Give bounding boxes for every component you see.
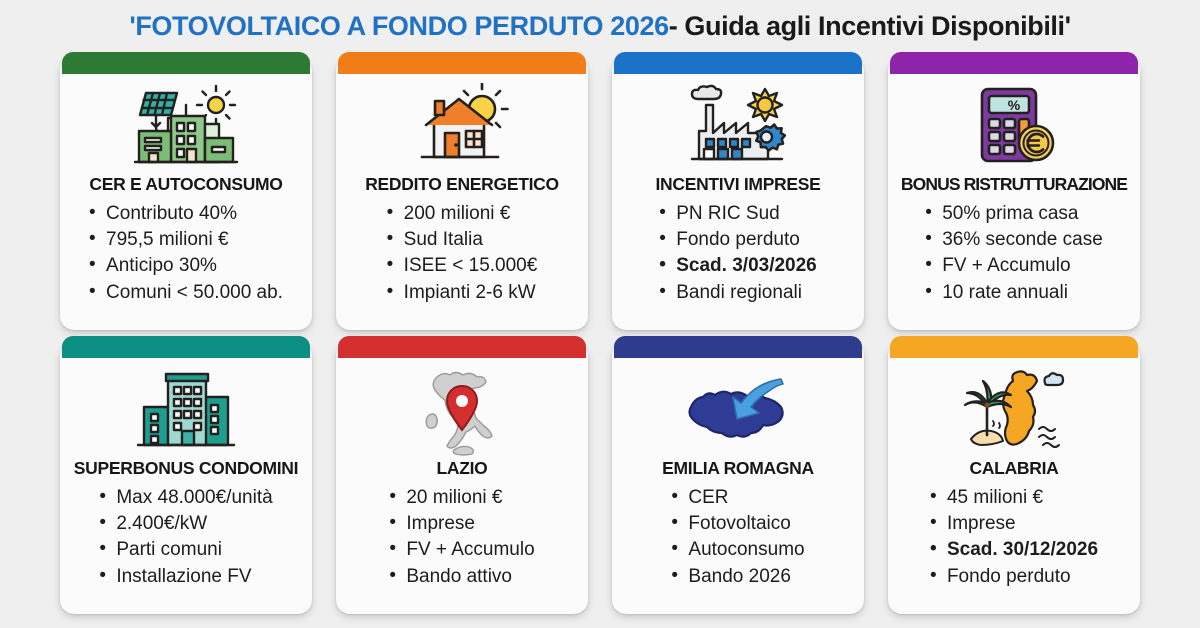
card-title: CER E AUTOCONSUMO	[89, 174, 282, 195]
card-accent-bar	[338, 336, 586, 358]
factory-sun-gear-icon	[618, 80, 858, 172]
svg-text:%: %	[1008, 97, 1021, 113]
card-content: INCENTIVI IMPRESEPN RIC SudFondo perduto…	[618, 80, 858, 306]
card-content: CER E AUTOCONSUMOContributo 40%795,5 mil…	[66, 80, 306, 306]
calculator-euro-icon: %	[894, 80, 1134, 172]
card-title: LAZIO	[437, 458, 488, 479]
bullet-item: FV + Accumulo	[389, 537, 534, 563]
card-cell: CALABRIA45 milioni €ImpreseScad. 30/12/2…	[876, 336, 1152, 620]
card-emilia-romagna[interactable]: EMILIA ROMAGNACERFotovoltaicoAutoconsumo…	[612, 342, 864, 614]
card-title: REDDITO ENERGETICO	[365, 174, 559, 195]
card-content: REDDITO ENERGETICO200 milioni €Sud Itali…	[342, 80, 582, 306]
italy-map-pin-icon	[342, 364, 582, 456]
solar-panel-buildings-icon	[66, 80, 306, 172]
bullet-item: Installazione FV	[99, 564, 272, 590]
bullet-item: Comuni < 50.000 ab.	[89, 280, 283, 306]
house-sun-icon	[342, 80, 582, 172]
card-bonus-ristrutturazione[interactable]: % BONUS RISTRUTTURAZIONE50% prima casa36…	[888, 58, 1140, 330]
card-cell: CER E AUTOCONSUMOContributo 40%795,5 mil…	[48, 52, 324, 336]
card-title: CALABRIA	[970, 458, 1059, 479]
bullet-item: 795,5 milioni €	[89, 227, 283, 253]
bullet-item: Fondo perduto	[930, 564, 1098, 590]
card-content: SUPERBONUS CONDOMINIMax 48.000€/unità2.4…	[66, 364, 306, 590]
bullet-item: PN RIC Sud	[659, 201, 817, 227]
card-cell: INCENTIVI IMPRESEPN RIC SudFondo perduto…	[600, 52, 876, 336]
page-title: 'FOTOVOLTAICO A FONDO PERDUTO 2026 - Gui…	[0, 0, 1200, 52]
card-calabria[interactable]: CALABRIA45 milioni €ImpreseScad. 30/12/2…	[888, 342, 1140, 614]
page-title-subtitle: - Guida agli Incentivi Disponibili'	[669, 13, 1071, 40]
emilia-romagna-map-arrow-icon	[618, 364, 858, 456]
card-superbonus-condomini[interactable]: SUPERBONUS CONDOMINIMax 48.000€/unità2.4…	[60, 342, 312, 614]
card-bullet-list: 45 milioni €ImpreseScad. 30/12/2026Fondo…	[930, 485, 1098, 590]
card-title: SUPERBONUS CONDOMINI	[74, 458, 298, 479]
apartment-building-icon	[66, 364, 306, 456]
bullet-item: ISEE < 15.000€	[387, 253, 538, 279]
card-title: BONUS RISTRUTTURAZIONE	[901, 174, 1127, 195]
card-bullet-list: CERFotovoltaicoAutoconsumoBando 2026	[671, 485, 804, 590]
card-accent-bar	[890, 52, 1138, 74]
card-lazio[interactable]: LAZIO20 milioni €ImpreseFV + AccumuloBan…	[336, 342, 588, 614]
card-accent-bar	[62, 336, 310, 358]
infographic-page: 'FOTOVOLTAICO A FONDO PERDUTO 2026 - Gui…	[0, 0, 1200, 628]
page-title-highlight: 'FOTOVOLTAICO A FONDO PERDUTO 2026	[129, 13, 668, 40]
bullet-item: Scad. 3/03/2026	[659, 253, 817, 279]
card-title: EMILIA ROMAGNA	[662, 458, 814, 479]
bullet-item: 10 rate annuali	[925, 280, 1103, 306]
card-bullet-list: Max 48.000€/unità2.400€/kWParti comuniIn…	[99, 485, 272, 590]
bullet-item: Imprese	[389, 511, 534, 537]
bullet-item: Anticipo 30%	[89, 253, 283, 279]
calabria-map-palm-icon	[894, 364, 1134, 456]
card-cell: EMILIA ROMAGNACERFotovoltaicoAutoconsumo…	[600, 336, 876, 620]
bullet-item: 200 milioni €	[387, 201, 538, 227]
bullet-item: Fondo perduto	[659, 227, 817, 253]
bullet-item: Parti comuni	[99, 537, 272, 563]
card-bullet-list: 50% prima casa36% seconde caseFV + Accum…	[925, 201, 1103, 306]
card-cell: LAZIO20 milioni €ImpreseFV + AccumuloBan…	[324, 336, 600, 620]
card-content: CALABRIA45 milioni €ImpreseScad. 30/12/2…	[894, 364, 1134, 590]
bullet-item: 45 milioni €	[930, 485, 1098, 511]
bullet-item: Sud Italia	[387, 227, 538, 253]
card-title: INCENTIVI IMPRESE	[655, 174, 820, 195]
bullet-item: Autoconsumo	[671, 537, 804, 563]
bullet-item: Scad. 30/12/2026	[930, 537, 1098, 563]
bullet-item: FV + Accumulo	[925, 253, 1103, 279]
card-reddito-energetico[interactable]: REDDITO ENERGETICO200 milioni €Sud Itali…	[336, 58, 588, 330]
card-cell: % BONUS RISTRUTTURAZIONE50% prima casa36…	[876, 52, 1152, 336]
card-cell: SUPERBONUS CONDOMINIMax 48.000€/unità2.4…	[48, 336, 324, 620]
card-content: EMILIA ROMAGNACERFotovoltaicoAutoconsumo…	[618, 364, 858, 590]
bullet-item: Contributo 40%	[89, 201, 283, 227]
card-bullet-list: 200 milioni €Sud ItaliaISEE < 15.000€Imp…	[387, 201, 538, 306]
bullet-item: Max 48.000€/unità	[99, 485, 272, 511]
card-accent-bar	[614, 336, 862, 358]
card-cer-e-autoconsumo[interactable]: CER E AUTOCONSUMOContributo 40%795,5 mil…	[60, 58, 312, 330]
bullet-item: Impianti 2-6 kW	[387, 280, 538, 306]
bullet-item: 20 milioni €	[389, 485, 534, 511]
card-content: LAZIO20 milioni €ImpreseFV + AccumuloBan…	[342, 364, 582, 590]
bullet-item: 36% seconde case	[925, 227, 1103, 253]
card-content: % BONUS RISTRUTTURAZIONE50% prima casa36…	[894, 80, 1134, 306]
card-accent-bar	[890, 336, 1138, 358]
bullet-item: Fotovoltaico	[671, 511, 804, 537]
bullet-item: Bandi regionali	[659, 280, 817, 306]
card-accent-bar	[338, 52, 586, 74]
card-accent-bar	[62, 52, 310, 74]
card-incentivi-imprese[interactable]: INCENTIVI IMPRESEPN RIC SudFondo perduto…	[612, 58, 864, 330]
card-grid: CER E AUTOCONSUMOContributo 40%795,5 mil…	[0, 52, 1200, 628]
card-cell: REDDITO ENERGETICO200 milioni €Sud Itali…	[324, 52, 600, 336]
bullet-item: Bando attivo	[389, 564, 534, 590]
bullet-item: Bando 2026	[671, 564, 804, 590]
card-bullet-list: Contributo 40%795,5 milioni €Anticipo 30…	[89, 201, 283, 306]
bullet-item: Imprese	[930, 511, 1098, 537]
bullet-item: CER	[671, 485, 804, 511]
card-bullet-list: PN RIC SudFondo perdutoScad. 3/03/2026Ba…	[659, 201, 817, 306]
card-accent-bar	[614, 52, 862, 74]
bullet-item: 2.400€/kW	[99, 511, 272, 537]
card-bullet-list: 20 milioni €ImpreseFV + AccumuloBando at…	[389, 485, 534, 590]
bullet-item: 50% prima casa	[925, 201, 1103, 227]
